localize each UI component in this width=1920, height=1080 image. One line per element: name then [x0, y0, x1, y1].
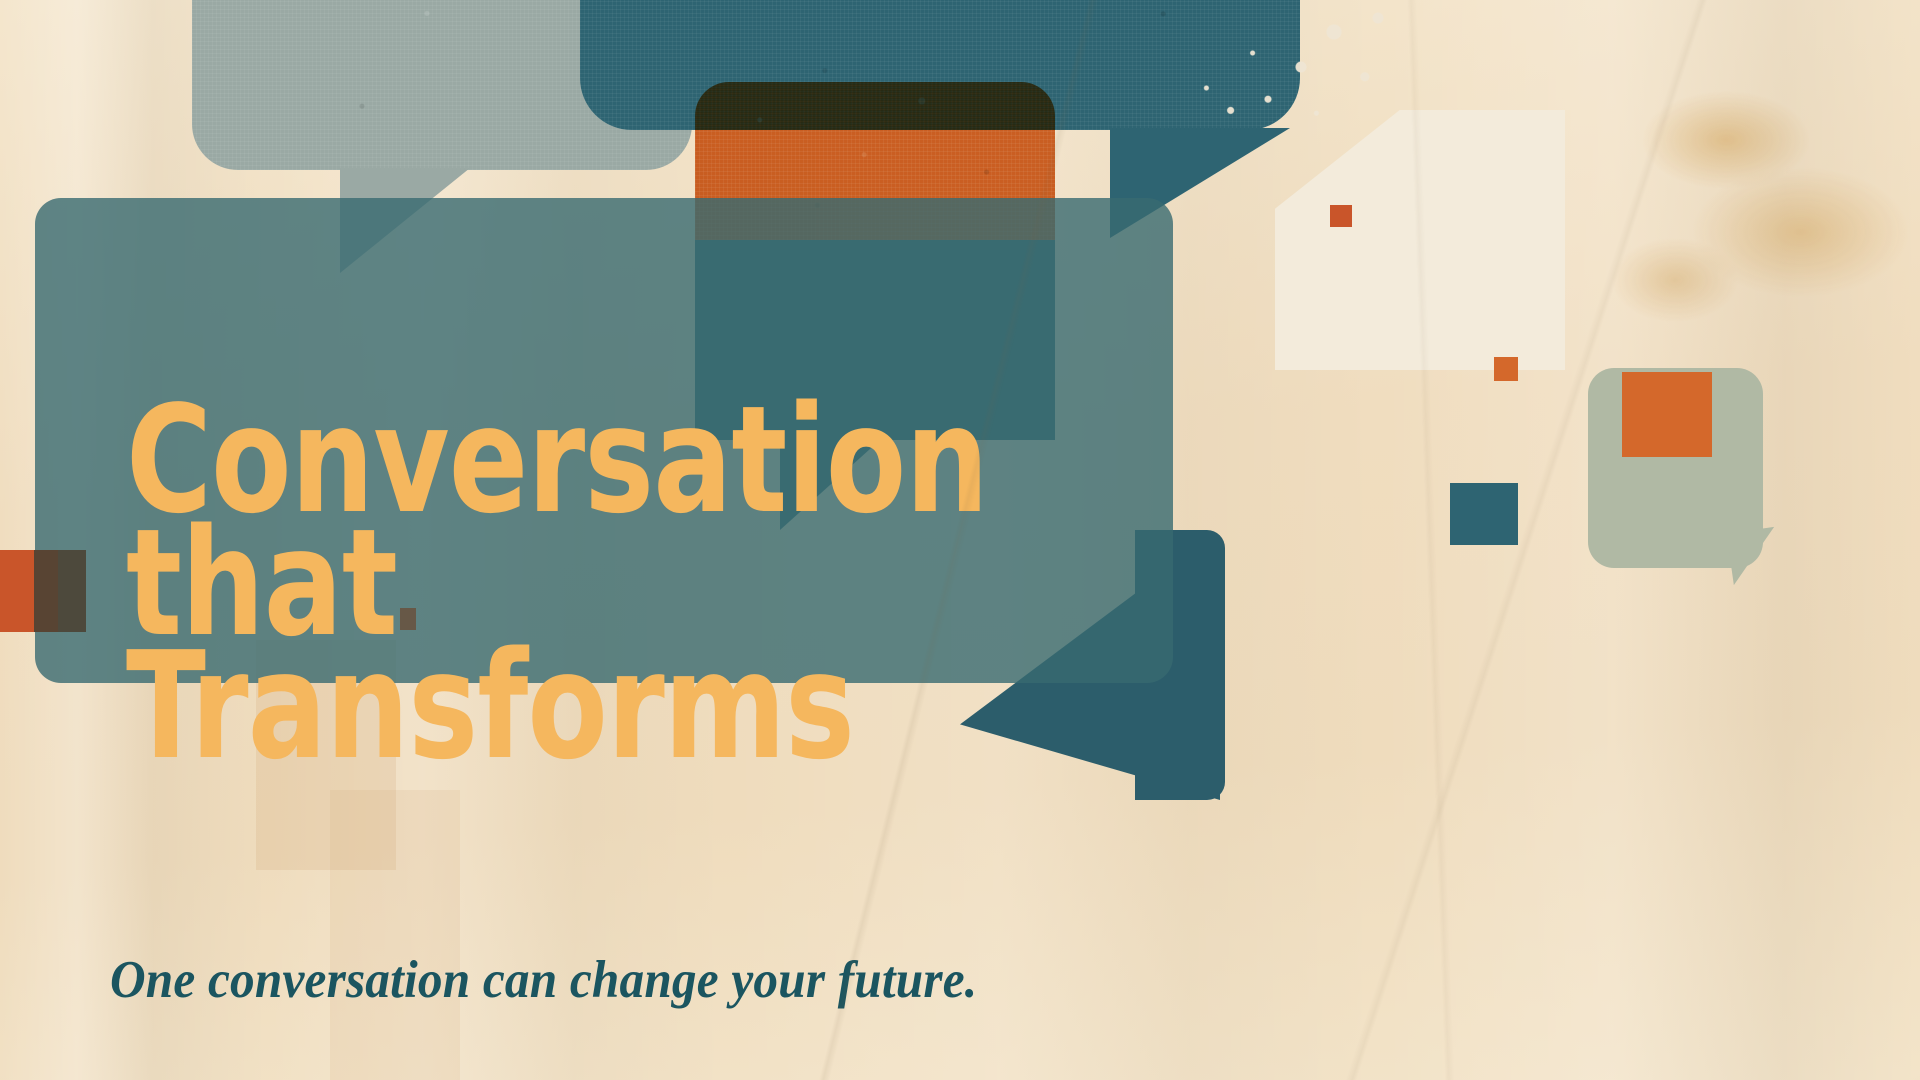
teal-square-small: [1450, 483, 1518, 545]
speech-bubble-sage-tail: [1727, 527, 1782, 585]
cream-wedge-shape: [1275, 110, 1565, 370]
slide-canvas: Conversation that Transforms One convers…: [0, 0, 1920, 1080]
dark-square-edge: [34, 550, 86, 632]
orange-square-tiny: [1494, 357, 1518, 381]
gold-stain-texture: [1590, 0, 1920, 400]
page-title: Conversation that Transforms: [126, 399, 1059, 767]
orange-square-tiny: [1330, 205, 1352, 227]
paper-wash-block: [330, 790, 460, 1080]
page-subtitle: One conversation can change your future.: [110, 950, 977, 1010]
orange-square-small: [1622, 372, 1712, 457]
